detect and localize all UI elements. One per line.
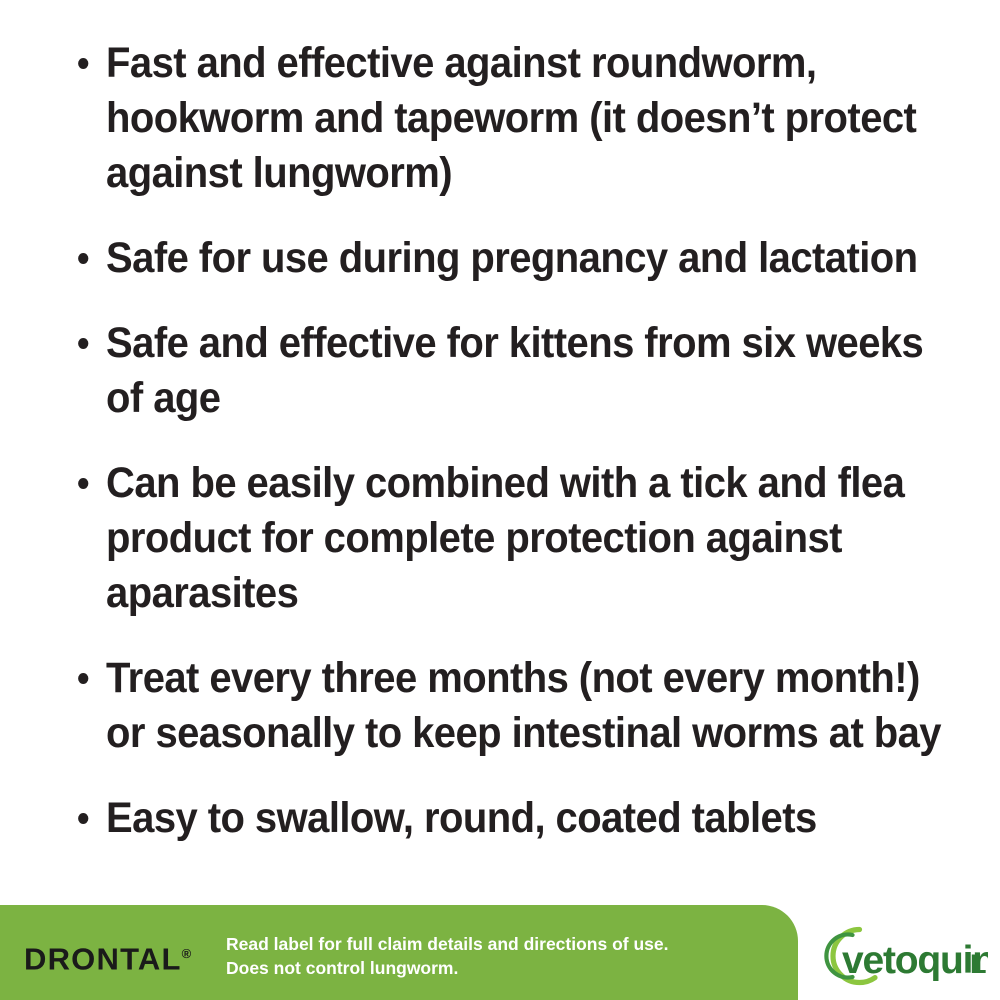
disclaimer-line-2: Does not control lungworm. <box>226 956 786 980</box>
list-item: Safe for use during pregnancy and lactat… <box>0 231 1000 286</box>
benefits-list: Fast and effective against roundworm, ho… <box>0 0 1000 876</box>
footer-disclaimer: Read label for full claim details and di… <box>226 932 786 980</box>
list-item: Treat every three months (not every mont… <box>0 651 1000 761</box>
list-item: Safe and effective for kittens from six … <box>0 316 1000 426</box>
dot-bullet-icon <box>78 253 88 264</box>
list-item: Can be easily combined with a tick and f… <box>0 456 1000 621</box>
dot-bullet-icon <box>78 673 88 684</box>
drontal-brand-logo: DRONTAL® <box>24 938 191 974</box>
footer-green-bar: DRONTAL® Read label for full claim detai… <box>0 905 798 1000</box>
svg-text:vetoquino: vetoquino <box>842 939 988 982</box>
dot-bullet-icon <box>78 338 88 349</box>
list-item-label: Easy to swallow, round, coated tablets <box>106 791 948 846</box>
list-item-label: Treat every three months (not every mont… <box>106 651 948 761</box>
registered-trademark-icon: ® <box>182 946 192 961</box>
list-item-label: Can be easily combined with a tick and f… <box>106 456 948 621</box>
dot-bullet-icon <box>78 478 88 489</box>
drontal-brand-name: DRONTAL <box>24 941 182 976</box>
dot-bullet-icon <box>78 813 88 824</box>
list-item-label: Safe and effective for kittens from six … <box>106 316 948 426</box>
disclaimer-line-1: Read label for full claim details and di… <box>226 932 786 956</box>
list-item-label: Safe for use during pregnancy and lactat… <box>106 231 948 286</box>
vetoquinol-logo: vetoquino L <box>812 923 988 989</box>
svg-text:L: L <box>970 949 987 979</box>
dot-bullet-icon <box>78 58 88 69</box>
footer: DRONTAL® Read label for full claim detai… <box>0 905 1000 1000</box>
list-item: Fast and effective against roundworm, ho… <box>0 36 1000 201</box>
list-item: Easy to swallow, round, coated tablets <box>0 791 1000 846</box>
list-item-label: Fast and effective against roundworm, ho… <box>106 36 948 201</box>
vetoquinol-wordmark: vetoquino L <box>842 939 988 982</box>
poster-page: Fast and effective against roundworm, ho… <box>0 0 1000 1000</box>
